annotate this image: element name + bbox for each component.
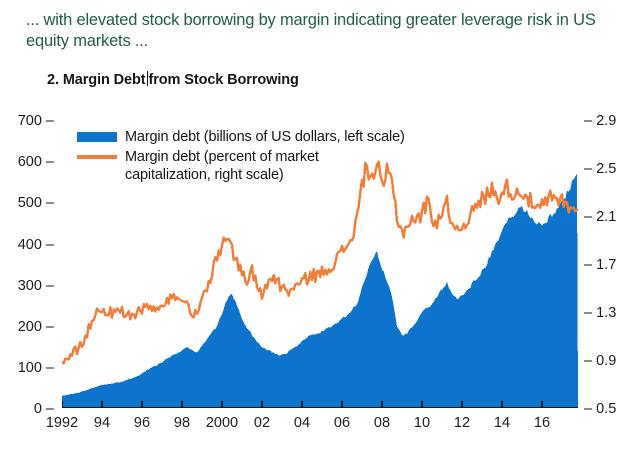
y-left-tick-300: 300 – [0, 279, 54, 294]
legend-item-billions: Margin debt (billions of US dollars, lef… [77, 128, 457, 146]
legend-item-percent: Margin debt (percent of market capitaliz… [77, 148, 457, 184]
y-right-tick-2-9: – 2.9 [584, 114, 616, 129]
blue-area-swatch-icon [77, 132, 117, 142]
legend-swatch-area-1 [77, 128, 125, 146]
chart-area: 0 – 100 – 200 – 300 – 400 – 500 – 600 – … [0, 100, 640, 449]
y-right-tick-1-3: – 1.3 [584, 306, 616, 321]
y-left-tick-600: 600 – [0, 155, 54, 170]
legend-label-billions-line1: Margin debt (billions of US dollars, lef… [125, 129, 405, 145]
y-left-tick-400: 400 – [0, 238, 54, 253]
orange-line-swatch-icon [77, 155, 117, 159]
x-axis-tick-label: 16 [512, 416, 572, 431]
text-caret [147, 71, 148, 86]
legend-label-billions: Margin debt (billions of US dollars, lef… [125, 128, 405, 146]
figure-title-part1: 2. Margin Debt [47, 72, 146, 88]
page-title: 2. Margin Debtfrom Stock Borrowing [47, 71, 299, 88]
chart-legend: Margin debt (billions of US dollars, lef… [77, 128, 457, 186]
y-left-tick-200: 200 – [0, 320, 54, 335]
y-left-tick-100: 100 – [0, 361, 54, 376]
y-right-tick-0-5: – 0.5 [584, 402, 616, 417]
figure-title-part2: from Stock Borrowing [149, 72, 299, 88]
margin-debt-billions-area [62, 173, 578, 408]
figure-panel: ... with elevated stock borrowing by mar… [0, 0, 640, 449]
y-right-tick-2-5: – 2.5 [584, 162, 616, 177]
legend-label-percent: Margin debt (percent of market capitaliz… [125, 148, 319, 184]
y-right-tick-1-7: – 1.7 [584, 258, 616, 273]
legend-label-percent-line2: capitalization, right scale) [125, 166, 319, 184]
y-right-tick-2-1: – 2.1 [584, 210, 616, 225]
y-right-tick-0-9: – 0.9 [584, 354, 616, 369]
intro-text: ... with elevated stock borrowing by mar… [26, 10, 626, 52]
legend-swatch-area-2 [77, 148, 125, 166]
y-left-tick-700: 700 – [0, 114, 54, 129]
legend-label-percent-line1: Margin debt (percent of market [125, 149, 319, 165]
y-left-tick-500: 500 – [0, 196, 54, 211]
